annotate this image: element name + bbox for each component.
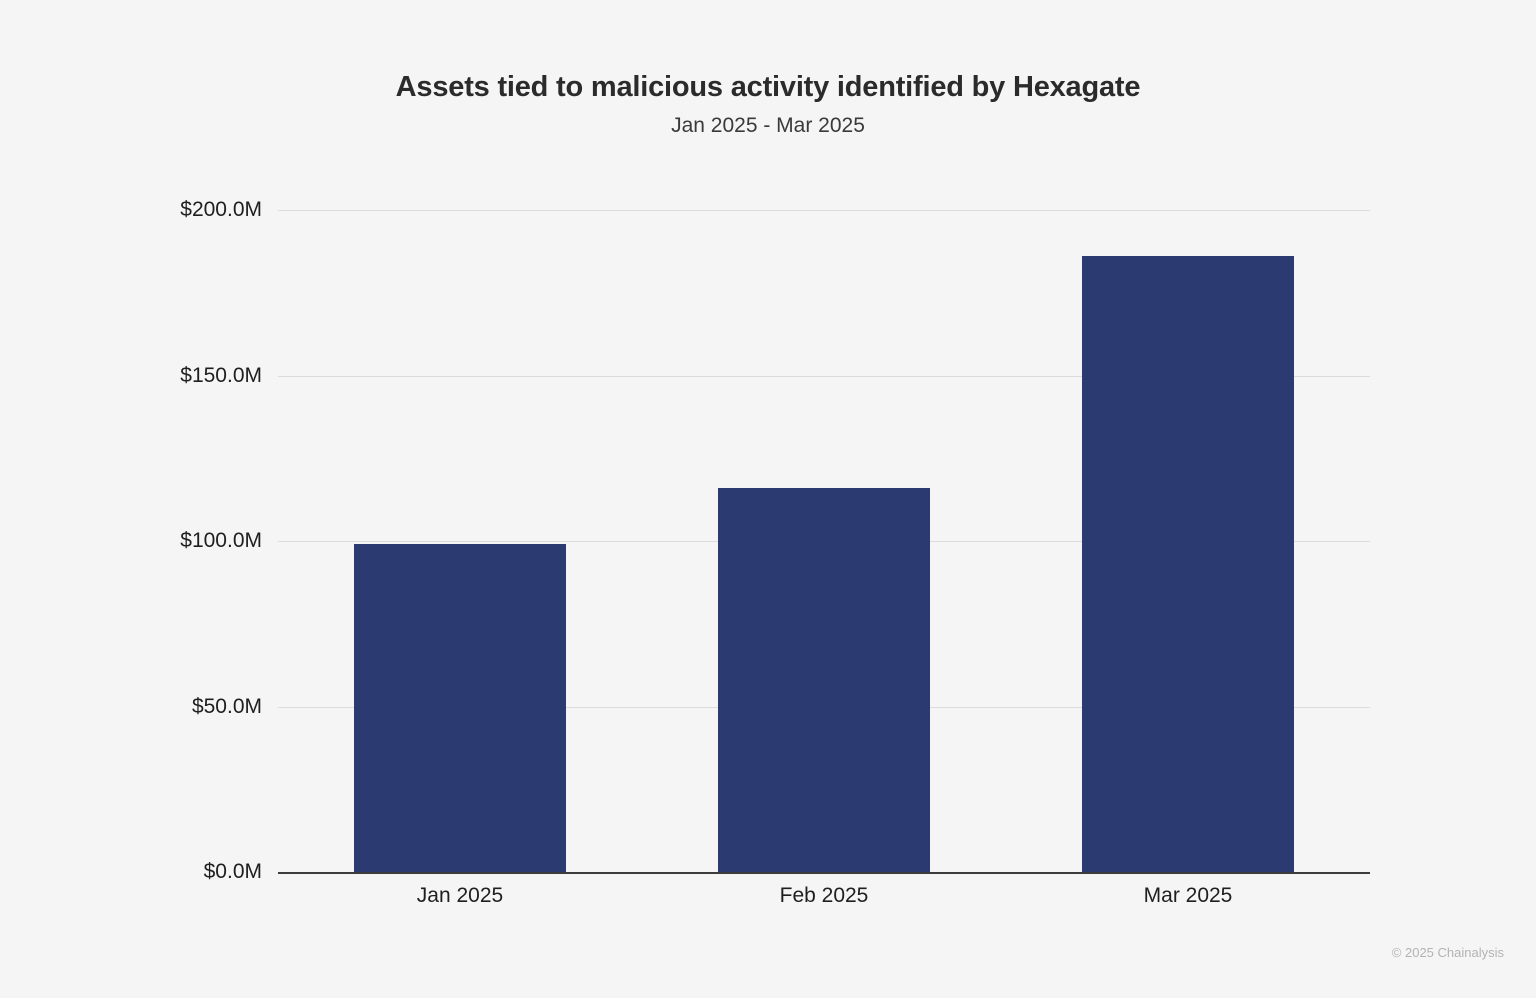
bar[interactable]: [354, 544, 566, 872]
y-axis-tick-label: $50.0M: [62, 695, 262, 719]
bar[interactable]: [1082, 256, 1294, 872]
chart-subtitle: Jan 2025 - Mar 2025: [0, 110, 1536, 142]
x-axis-line: [278, 872, 1370, 874]
y-axis-tick-label: $100.0M: [62, 529, 262, 553]
page-title: Assets tied to malicious activity identi…: [0, 68, 1536, 106]
x-axis-tick-label: Jan 2025: [417, 884, 503, 908]
chart-title-block: Assets tied to malicious activity identi…: [0, 68, 1536, 142]
x-axis-tick-label: Feb 2025: [780, 884, 869, 908]
copyright-notice: © 2025 Chainalysis: [1392, 945, 1504, 960]
y-axis-tick-label: $150.0M: [62, 364, 262, 388]
bar[interactable]: [718, 488, 930, 872]
gridline: [278, 210, 1370, 211]
x-axis-tick-label: Mar 2025: [1144, 884, 1233, 908]
plot-area: [278, 210, 1370, 872]
y-axis-tick-label: $0.0M: [62, 860, 262, 884]
chart-figure: Assets tied to malicious activity identi…: [0, 0, 1536, 998]
y-axis-tick-label: $200.0M: [62, 198, 262, 222]
